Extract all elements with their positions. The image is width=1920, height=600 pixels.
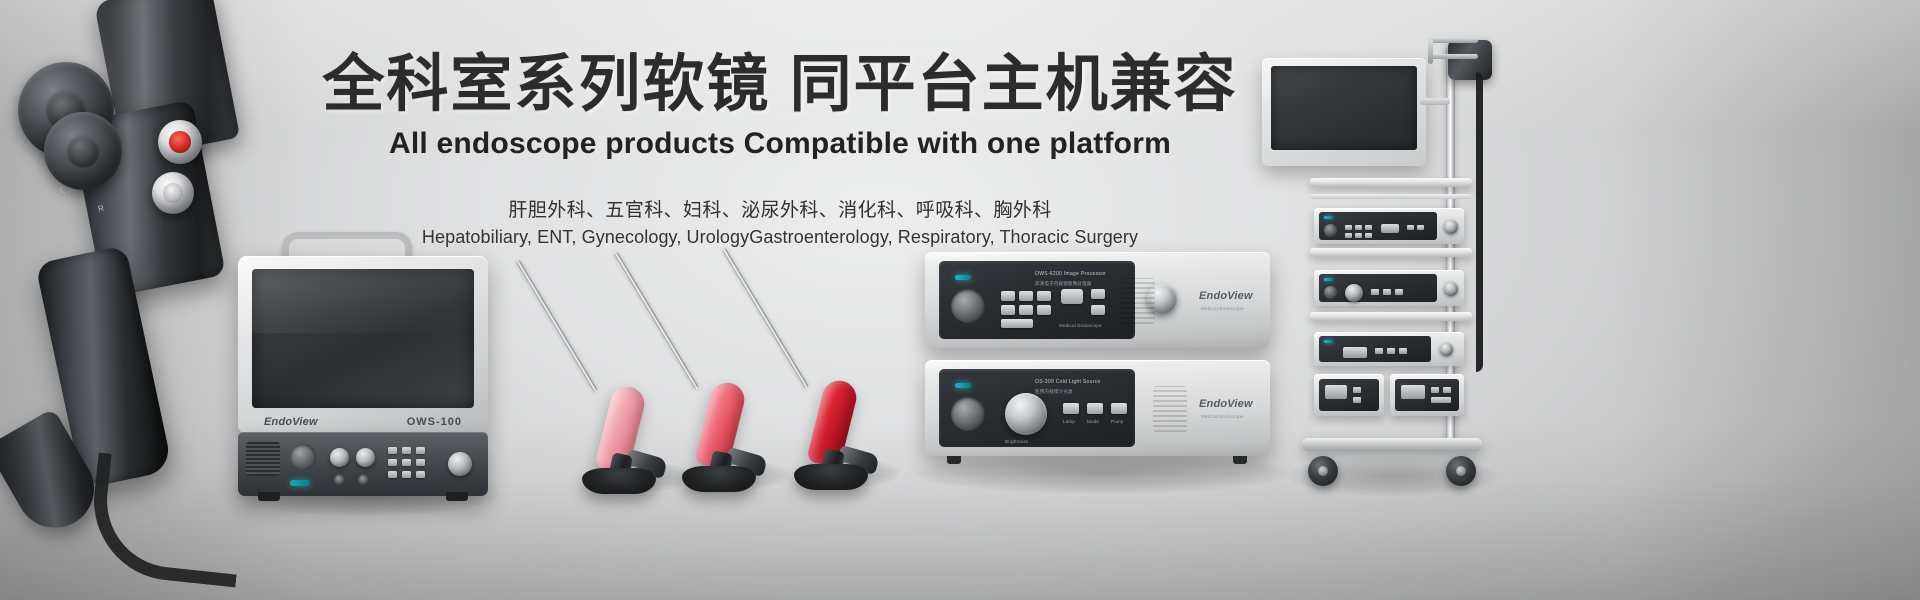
- console-1-btn-8: [1091, 305, 1105, 315]
- cart-unit-3: [1314, 332, 1464, 366]
- cart-unit-5-right: [1390, 374, 1464, 416]
- cart-unit-2-btn-2: [1383, 289, 1391, 295]
- page-title: 全科室系列软镜 同平台主机兼容: [0, 52, 1560, 119]
- monitor-btn-3: [416, 447, 425, 454]
- cart-unit-2-btn-1: [1371, 289, 1379, 295]
- cart-unit-3-knob: [1440, 343, 1453, 356]
- console-2-btn-label-2: Mode: [1087, 419, 1099, 424]
- monitor-foot-left: [258, 492, 280, 501]
- console-1-btn-3: [1037, 291, 1051, 301]
- cart-caster-right: [1446, 456, 1476, 486]
- cart-unit-4-display: [1325, 385, 1347, 399]
- console-1-title: OWS-6200 Image Processor: [1035, 271, 1106, 277]
- console-1-vent: [1121, 278, 1155, 324]
- instrument-2-shaft: [614, 252, 699, 389]
- console-foot-left: [947, 456, 961, 464]
- monitor-btn-9: [416, 471, 425, 478]
- monitor-btn-1: [388, 447, 397, 454]
- departments-english: Hepatobiliary, ENT, Gynecology, UrologyG…: [0, 227, 1560, 248]
- monitor-model-label: OWS-100: [407, 416, 462, 428]
- cart-unit-4-btn-2: [1353, 397, 1361, 403]
- banner-root: U L R EndoView OWS-100: [0, 0, 1920, 600]
- console-1-btn-7: [1091, 289, 1105, 299]
- console-2-btn-2: [1087, 403, 1103, 414]
- monitor-knob-right: [448, 452, 472, 476]
- monitor-screen: [252, 269, 474, 408]
- cart-unit-3-btn-2: [1387, 348, 1395, 354]
- laparoscopic-instrument-red: [706, 246, 866, 490]
- cart-base-assembly: [1302, 438, 1482, 490]
- cart-unit-2: [1314, 270, 1464, 306]
- monitor-knob-1: [330, 448, 349, 467]
- cart-unit-4-panel: [1319, 379, 1379, 411]
- cart-unit-2-port: [1324, 286, 1337, 299]
- cart-unit-3-panel: [1319, 336, 1431, 362]
- cart-unit-2-indicator: [1324, 278, 1333, 281]
- monitor-vent-grille: [246, 442, 280, 476]
- console-1-btn-wide: [1001, 319, 1033, 328]
- monitor-port-small-2: [358, 474, 369, 485]
- console-1-btn-2: [1019, 291, 1033, 301]
- console-1-btn-1: [1001, 291, 1015, 301]
- console-cold-light-source: OS-300 Cold Light Source 医用内窥镜冷光源 Lamp M…: [925, 360, 1270, 456]
- console-1-title-cn: 高清电子内窥镜图像处理器: [1035, 281, 1091, 287]
- cart-unit-4-left: [1314, 374, 1384, 416]
- console-1-btn-5: [1019, 305, 1033, 315]
- monitor-teal-indicator: [290, 480, 310, 486]
- cart-scope-hook-1: [1430, 38, 1478, 43]
- departments-chinese: 肝胆外科、五官科、妇科、泌尿外科、消化科、呼吸科、胸外科: [0, 195, 1560, 222]
- cart-unit-3-btn-3: [1399, 348, 1407, 354]
- monitor-foot-right: [446, 492, 468, 501]
- console-1-btn-4: [1001, 305, 1015, 315]
- cart-unit-5-btn-2: [1443, 387, 1451, 393]
- cart-unit-2-knob-main: [1345, 284, 1363, 302]
- cart-shelf-3: [1310, 312, 1472, 321]
- cart-unit-3-btn-1: [1375, 348, 1383, 354]
- console-1-brand: EndoView: [1199, 290, 1253, 302]
- instrument-3-stand: [794, 464, 868, 490]
- console-1-brand-sub: Medical Endoscope: [1201, 306, 1244, 311]
- endoscope-cable: [86, 452, 248, 587]
- console-2-brand-sub: Medical Endoscope: [1201, 414, 1244, 419]
- cart-unit-4-btn-1: [1353, 387, 1361, 393]
- cart-unit-5-btn-1: [1431, 387, 1439, 393]
- instrument-3-shaft: [722, 248, 809, 389]
- cart-unit-2-panel: [1319, 274, 1437, 302]
- console-2-brand: EndoView: [1199, 398, 1253, 410]
- monitor-knob-2: [356, 448, 375, 467]
- monitor-case: EndoView OWS-100: [238, 256, 488, 434]
- endoview-monitor-ows100: EndoView OWS-100: [238, 232, 488, 500]
- banner-text-block: 全科室系列软镜 同平台主机兼容 All endoscope products C…: [0, 52, 1560, 248]
- console-image-processor: OWS-6200 Image Processor 高清电子内窥镜图像处理器 Me…: [925, 252, 1270, 348]
- monitor-btn-8: [402, 471, 411, 478]
- console-2-title: OS-300 Cold Light Source: [1035, 379, 1101, 385]
- monitor-btn-4: [388, 459, 397, 466]
- page-subtitle: All endoscope products Compatible with o…: [0, 127, 1560, 161]
- console-2-light-port: [951, 397, 985, 431]
- console-1-btn-6: [1037, 305, 1051, 315]
- monitor-btn-6: [416, 459, 425, 466]
- cart-unit-2-btn-3: [1395, 289, 1403, 295]
- console-2-btn-3: [1111, 403, 1127, 414]
- cart-base-plate: [1302, 438, 1482, 451]
- console-2-btn-1: [1063, 403, 1079, 414]
- cart-unit-3-indicator: [1324, 340, 1333, 343]
- cart-shelf-2: [1310, 248, 1472, 257]
- cart-unit-2-knob: [1444, 282, 1458, 296]
- cart-unit-5-panel: [1395, 379, 1459, 411]
- instrument-1-shaft: [516, 260, 598, 392]
- cart-caster-left: [1308, 456, 1338, 486]
- console-1-display: [1061, 289, 1083, 304]
- console-foot-right: [1233, 456, 1247, 464]
- monitor-btn-5: [402, 459, 411, 466]
- cart-unit-3-display: [1343, 347, 1367, 358]
- console-2-btn-label-1: Lamp: [1063, 419, 1075, 424]
- monitor-btn-7: [388, 471, 397, 478]
- monitor-base-unit: [238, 432, 488, 496]
- monitor-port-small-1: [334, 474, 345, 485]
- console-2-power-indicator: [955, 383, 971, 388]
- cart-unit-5-btn-3: [1431, 397, 1451, 403]
- console-1-sub: Medical Endoscope: [1059, 323, 1102, 328]
- console-2-brightness-knob: [1005, 393, 1047, 435]
- console-2-dark-panel: OS-300 Cold Light Source 医用内窥镜冷光源 Lamp M…: [939, 369, 1135, 447]
- console-2-title-cn: 医用内窥镜冷光源: [1035, 389, 1073, 395]
- monitor-btn-2: [402, 447, 411, 454]
- cart-unit-5-display: [1401, 385, 1425, 399]
- endoview-console-stack: OWS-6200 Image Processor 高清电子内窥镜图像处理器 Me…: [925, 252, 1270, 467]
- console-2-faceplate: OS-300 Cold Light Source 医用内窥镜冷光源 Lamp M…: [925, 360, 1270, 456]
- console-1-dark-panel: OWS-6200 Image Processor 高清电子内窥镜图像处理器 Me…: [939, 261, 1135, 339]
- monitor-port-large: [290, 444, 316, 470]
- console-1-power-indicator: [955, 275, 971, 280]
- console-1-scope-port: [951, 289, 985, 323]
- console-2-vent: [1153, 386, 1187, 432]
- monitor-brand-label: EndoView: [264, 416, 318, 428]
- console-2-knob-label: Brightness: [1005, 439, 1028, 444]
- console-1-faceplate: OWS-6200 Image Processor 高清电子内窥镜图像处理器 Me…: [925, 252, 1270, 348]
- console-2-btn-label-3: Pump: [1111, 419, 1124, 424]
